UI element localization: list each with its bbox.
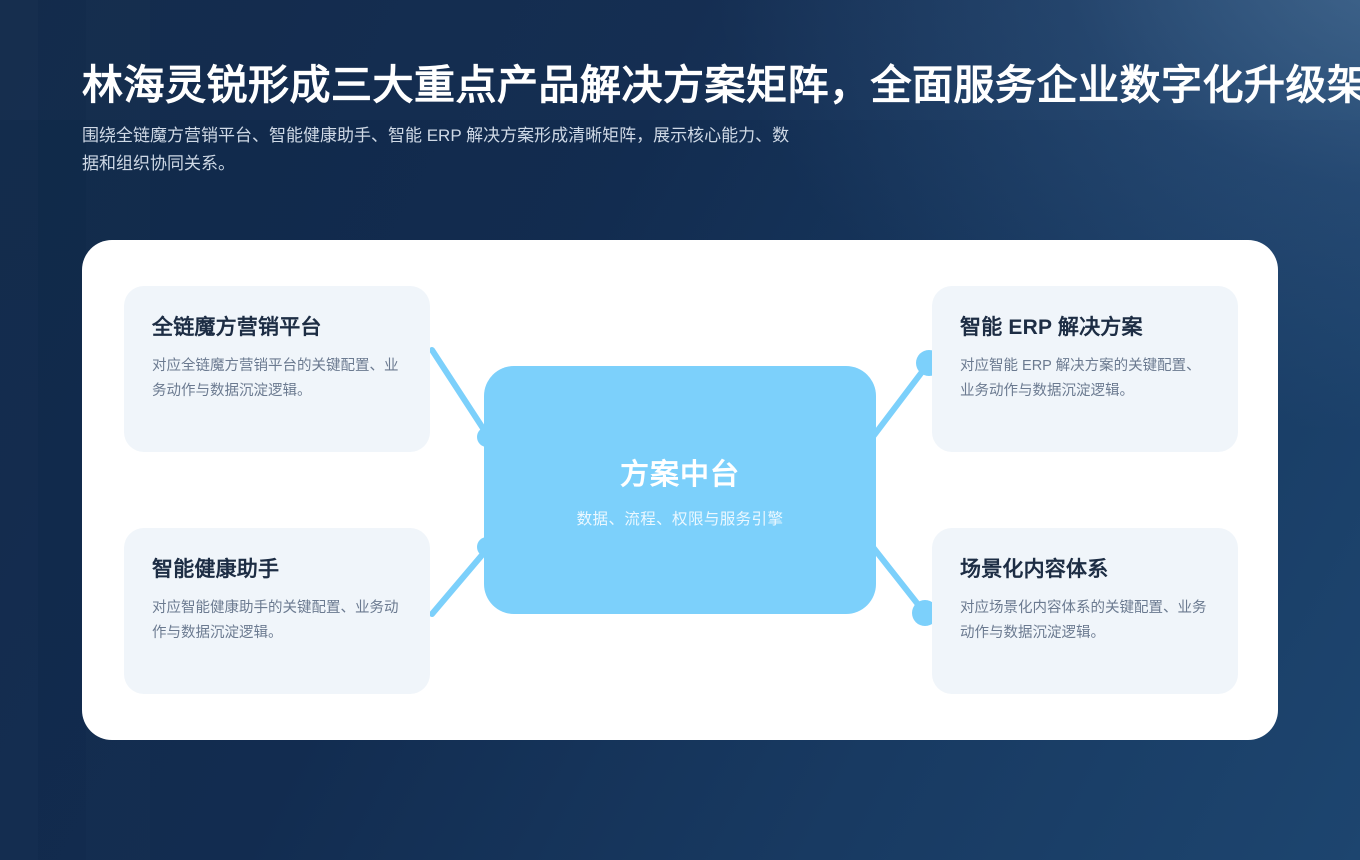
solution-card-erp[interactable]: 智能 ERP 解决方案 对应智能 ERP 解决方案的关键配置、业务动作与数据沉淀… xyxy=(932,286,1238,452)
center-hub-node[interactable]: 方案中台 数据、流程、权限与服务引擎 xyxy=(484,366,876,614)
page-title: 林海灵锐形成三大重点产品解决方案矩阵，全面服务企业数字化升级架构 xyxy=(82,62,1360,110)
solution-card-scenario-content[interactable]: 场景化内容体系 对应场景化内容体系的关键配置、业务动作与数据沉淀逻辑。 xyxy=(932,528,1238,694)
card-title: 场景化内容体系 xyxy=(960,556,1210,583)
card-description: 对应智能 ERP 解决方案的关键配置、业务动作与数据沉淀逻辑。 xyxy=(960,354,1210,404)
solution-card-quanlian-marketing[interactable]: 全链魔方营销平台 对应全链魔方营销平台的关键配置、业务动作与数据沉淀逻辑。 xyxy=(124,286,430,452)
hub-subtitle: 数据、流程、权限与服务引擎 xyxy=(577,507,784,529)
page-subtitle: 围绕全链魔方营销平台、智能健康助手、智能 ERP 解决方案形成清晰矩阵，展示核心… xyxy=(82,122,794,179)
header: 林海灵锐形成三大重点产品解决方案矩阵，全面服务企业数字化升级架构 围绕全链魔方营… xyxy=(82,62,1360,179)
card-title: 全链魔方营销平台 xyxy=(152,314,402,341)
hub-title: 方案中台 xyxy=(620,451,740,493)
card-description: 对应场景化内容体系的关键配置、业务动作与数据沉淀逻辑。 xyxy=(960,596,1210,646)
card-description: 对应智能健康助手的关键配置、业务动作与数据沉淀逻辑。 xyxy=(152,596,402,646)
card-title: 智能健康助手 xyxy=(152,556,402,583)
slide-canvas: 林海灵锐形成三大重点产品解决方案矩阵，全面服务企业数字化升级架构 围绕全链魔方营… xyxy=(0,0,1360,860)
solution-card-health-assistant[interactable]: 智能健康助手 对应智能健康助手的关键配置、业务动作与数据沉淀逻辑。 xyxy=(124,528,430,694)
card-description: 对应全链魔方营销平台的关键配置、业务动作与数据沉淀逻辑。 xyxy=(152,354,402,404)
card-title: 智能 ERP 解决方案 xyxy=(960,314,1210,341)
